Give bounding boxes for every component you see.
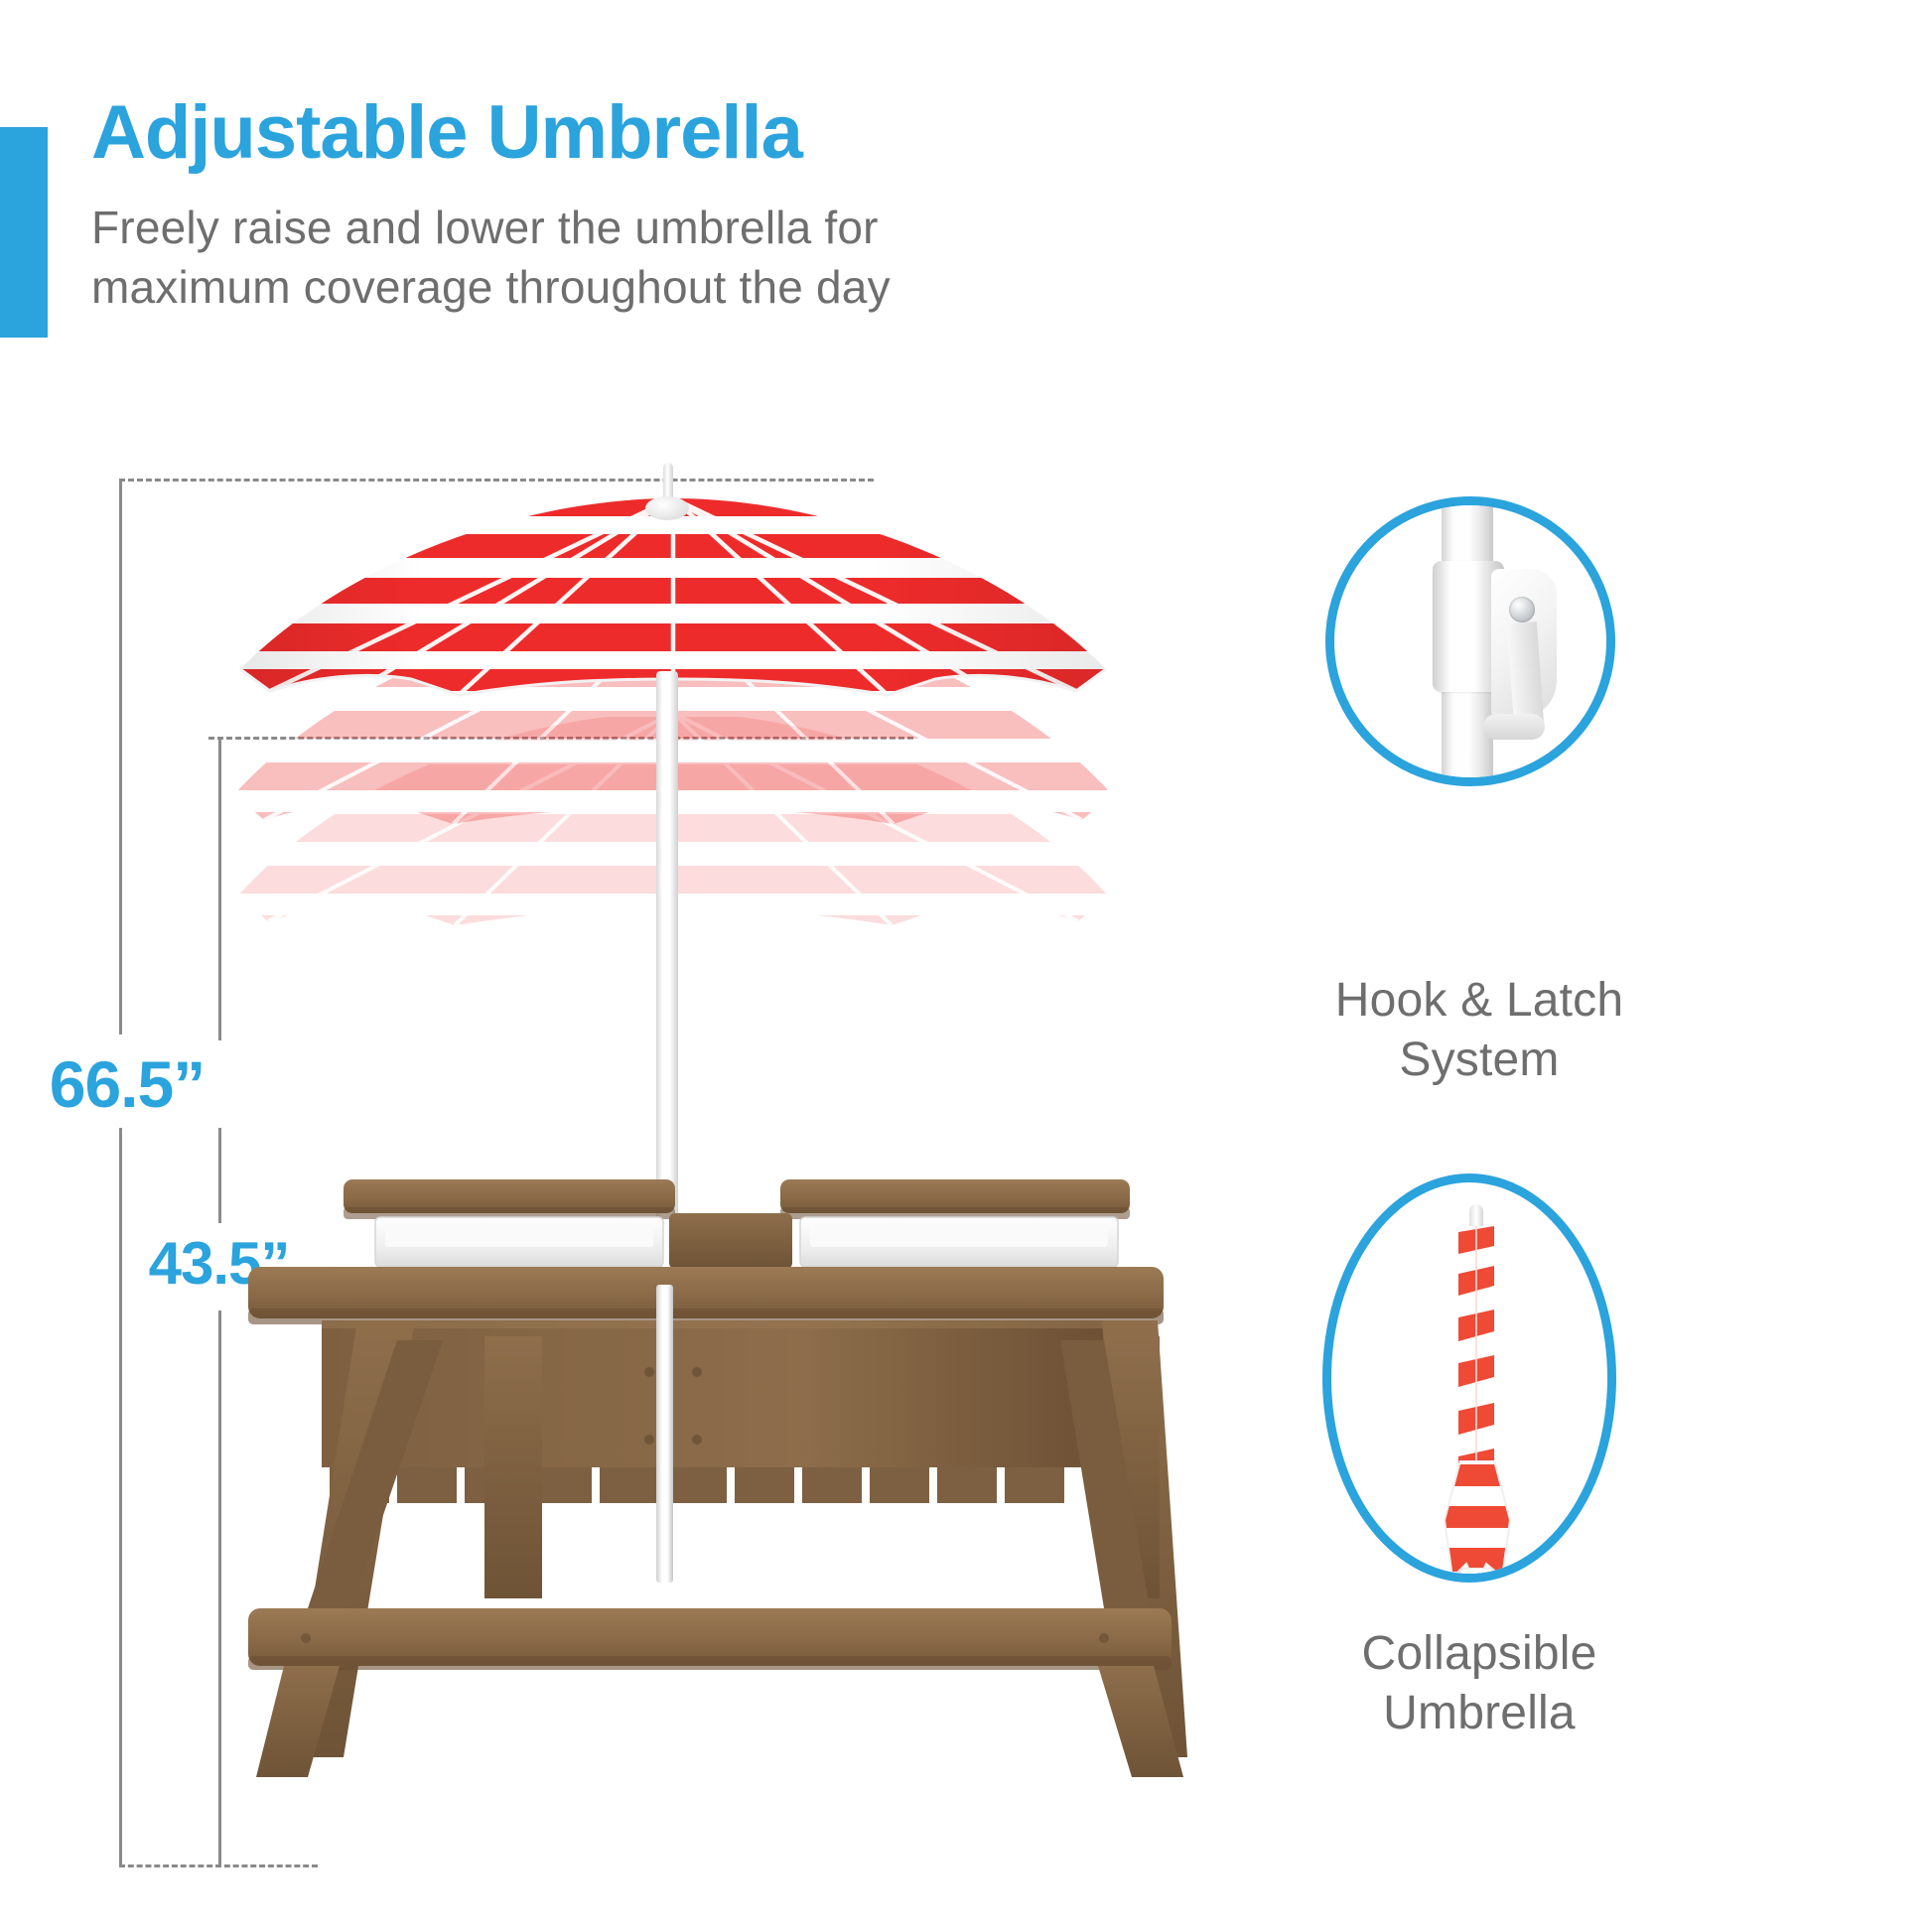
dimension-line-table-lower [218,1311,221,1866]
collapsible-label-line-2: Umbrella [1172,1684,1787,1743]
dimension-leader-top [119,479,874,482]
umbrella-pole-latch-icon [1334,505,1606,777]
picnic-table [248,1142,1201,1777]
dimension-label-total: 66.5” [28,1040,226,1128]
hook-latch-label: Hook & Latch System [1172,971,1787,1089]
subtitle-line-2: maximum coverage throughout the day [91,258,1203,318]
dimension-line-total-lower [119,1120,122,1866]
umbrella-pole-through-table [656,1285,673,1583]
dimension-line-total-upper [119,479,122,1035]
page-title: Adjustable Umbrella [91,95,1183,171]
accent-bar [0,127,48,338]
page-subtitle: Freely raise and lower the umbrella for … [91,199,1203,318]
hook-latch-label-line-2: System [1172,1031,1787,1090]
collapsible-umbrella-circle [1322,1173,1616,1583]
hook-latch-circle [1325,496,1615,786]
closed-umbrella-icon [1331,1182,1607,1574]
infographic-canvas: Adjustable Umbrella Freely raise and low… [0,0,1932,1932]
collapsible-label-line-1: Collapsible [1172,1624,1787,1684]
collapsible-umbrella-label: Collapsible Umbrella [1172,1624,1787,1742]
umbrella-hub [645,496,689,520]
subtitle-line-1: Freely raise and lower the umbrella for [91,199,1203,258]
hook-latch-label-line-1: Hook & Latch [1172,971,1787,1031]
